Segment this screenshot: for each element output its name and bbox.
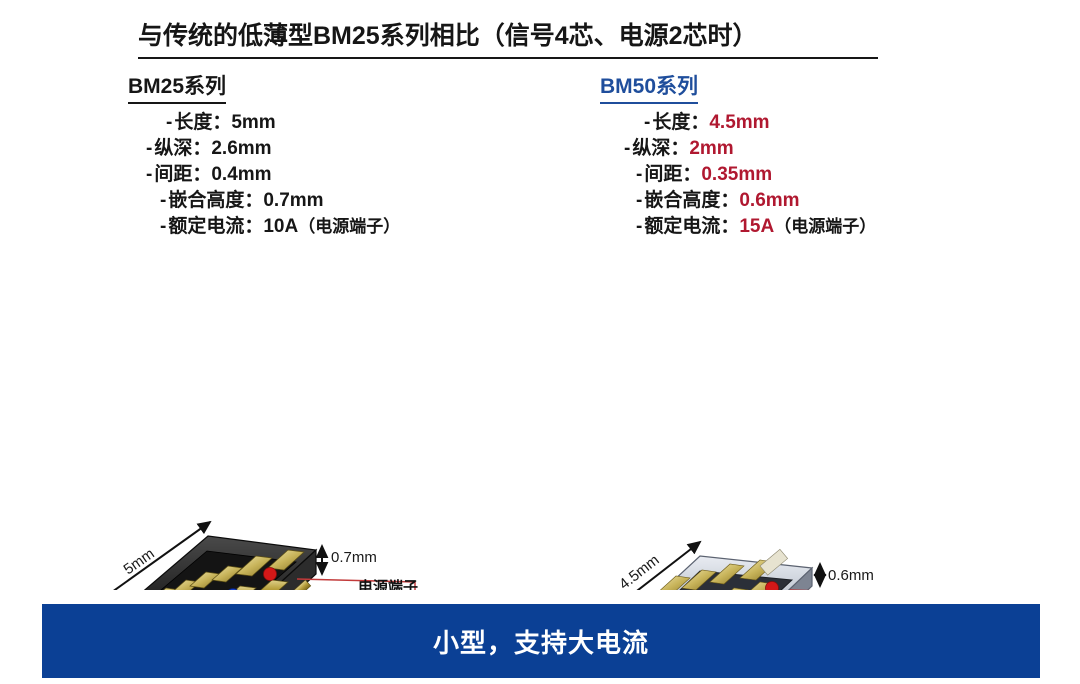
spec-item: -嵌合高度：0.6mm: [600, 188, 1020, 214]
spec-value: 4.5mm: [709, 112, 769, 133]
dim-label: 0.6mm: [828, 567, 874, 584]
bullet-dash: -: [160, 190, 166, 211]
spec-item: -额定电流：10A（电源端子）: [128, 214, 548, 240]
bullet-dash: -: [166, 112, 172, 133]
spec-item: -间距：0.35mm: [600, 162, 1020, 188]
banner-text: 小型，支持大电流: [433, 623, 649, 660]
spec-label: 间距：: [644, 164, 701, 185]
spec-value: 15A: [739, 216, 774, 237]
spec-label: 额定电流：: [644, 216, 739, 237]
spec-item: -长度：4.5mm: [600, 110, 1020, 136]
spec-value: 0.35mm: [701, 164, 772, 185]
spec-label: 间距：: [154, 164, 211, 185]
spec-column-bm50: BM50系列 -长度：4.5mm -纵深：2mm -间距：0.35mm -嵌合高…: [600, 70, 1020, 240]
bullet-dash: -: [146, 164, 152, 185]
spec-item: -长度：5mm: [128, 110, 548, 136]
spec-item: -纵深：2mm: [600, 136, 1020, 162]
power-terminal-dot: [264, 568, 277, 581]
bullet-dash: -: [146, 138, 152, 159]
spec-item: -嵌合高度：0.7mm: [128, 188, 548, 214]
spec-label: 额定电流：: [168, 216, 263, 237]
callout-power-label: 电源端子: [358, 578, 418, 590]
bullet-dash: -: [636, 190, 642, 211]
spec-value: 5mm: [231, 112, 275, 133]
spec-label: 嵌合高度：: [644, 190, 739, 211]
spec-value: 0.6mm: [739, 190, 799, 211]
spec-value: 2.6mm: [211, 138, 271, 159]
spec-column-bm25: BM25系列 -长度：5mm -纵深：2.6mm -间距：0.4mm -嵌合高度…: [128, 70, 548, 240]
spec-value: 0.7mm: [263, 190, 323, 211]
page-title: 与传统的低薄型BM25系列相比（信号4芯、电源2芯时）: [138, 16, 878, 59]
spec-label: 纵深：: [632, 138, 689, 159]
spec-list-bm25: -长度：5mm -纵深：2.6mm -间距：0.4mm -嵌合高度：0.7mm …: [128, 110, 548, 240]
spec-value: 0.4mm: [211, 164, 271, 185]
spec-list-bm50: -长度：4.5mm -纵深：2mm -间距：0.35mm -嵌合高度：0.6mm…: [600, 110, 1020, 240]
bullet-dash: -: [160, 216, 166, 237]
spec-item: -间距：0.4mm: [128, 162, 548, 188]
dim-label: 0.7mm: [331, 549, 377, 566]
spec-label: 纵深：: [154, 138, 211, 159]
dim-bm50-height: 0.6mm: [820, 564, 874, 586]
bottom-banner: 小型，支持大电流: [42, 604, 1040, 678]
spec-heading-bm50: BM50系列: [600, 70, 698, 104]
spec-value: 2mm: [689, 138, 733, 159]
spec-note: （电源端子）: [298, 217, 400, 236]
spec-label: 长度：: [652, 112, 709, 133]
spec-label: 长度：: [174, 112, 231, 133]
bullet-dash: -: [624, 138, 630, 159]
spec-item: -额定电流：15A（电源端子）: [600, 214, 1020, 240]
dim-label: 4.5mm: [616, 552, 663, 590]
dim-bm25-height: 0.7mm: [322, 546, 377, 574]
spec-value: 10A: [263, 216, 298, 237]
bullet-dash: -: [644, 112, 650, 133]
spec-heading-bm25: BM25系列: [128, 70, 226, 104]
spec-note: （电源端子）: [774, 217, 876, 236]
spec-label: 嵌合高度：: [168, 190, 263, 211]
bullet-dash: -: [636, 164, 642, 185]
figure-area: 5mm 2.6mm 0.7mm 2.6mm: [0, 250, 1080, 590]
spec-item: -纵深：2.6mm: [128, 136, 548, 162]
bullet-dash: -: [636, 216, 642, 237]
